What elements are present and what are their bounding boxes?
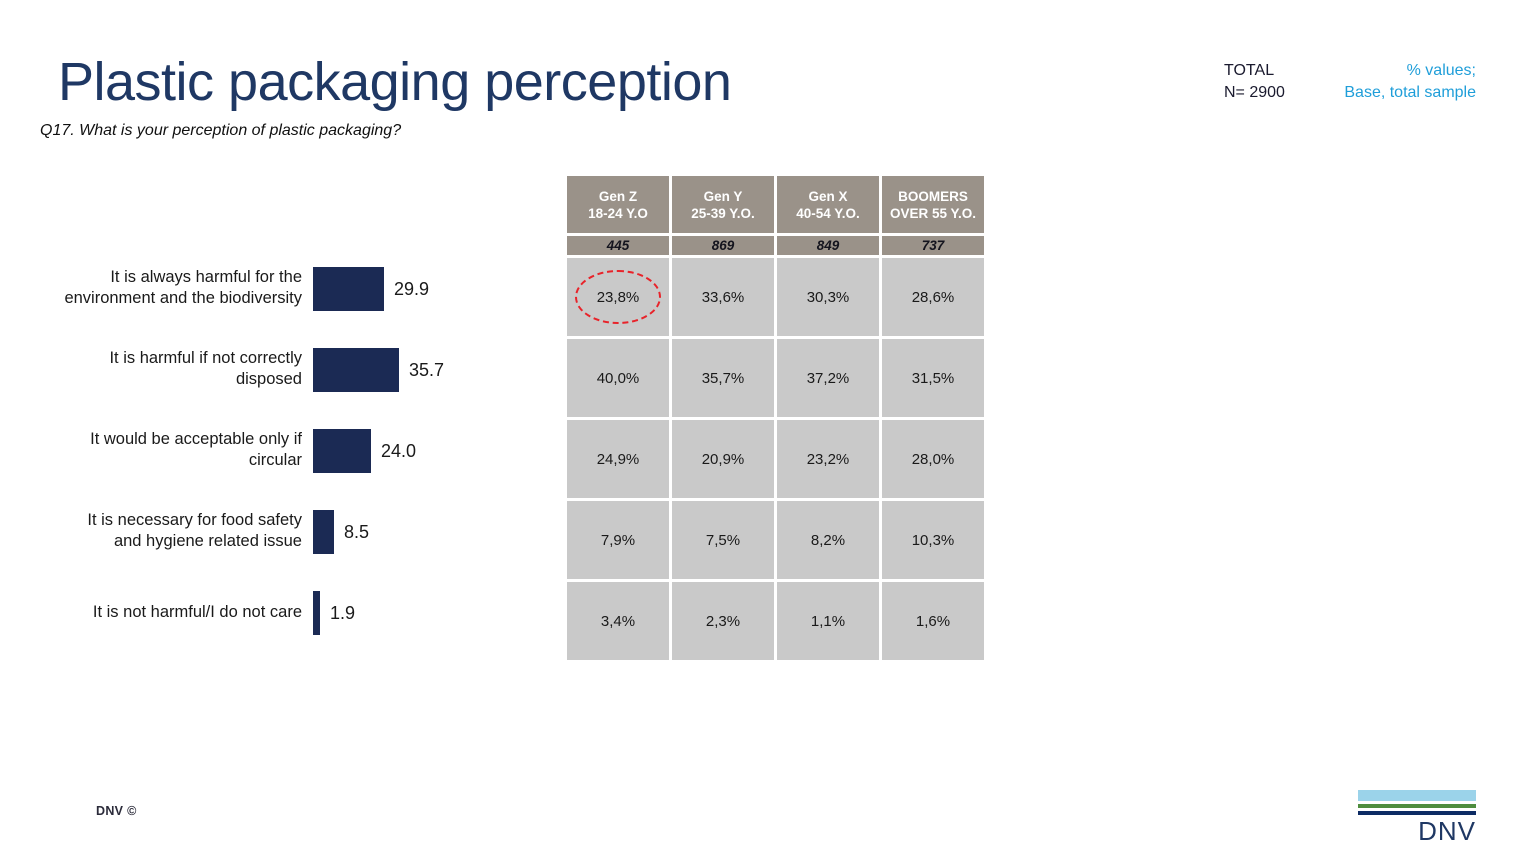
bar-value-label: 1.9: [330, 602, 355, 624]
table-cell-value: 7,5%: [706, 532, 740, 549]
table-cell-value: 40,0%: [597, 370, 640, 387]
table-cell-value: 28,0%: [912, 451, 955, 468]
column-header-line: 25-39 Y.O.: [691, 205, 755, 222]
base-note-line2: Base, total sample: [1344, 82, 1476, 104]
column-header-line: OVER 55 Y.O.: [890, 205, 976, 222]
logo-bar-navy: [1358, 811, 1476, 815]
table-row: 40,0%35,7%37,2%31,5%: [567, 339, 984, 417]
bar-value-label: 24.0: [381, 440, 416, 462]
question-label: Q17. What is your perception of plastic …: [40, 122, 401, 140]
table-cell: 8,2%: [777, 501, 879, 579]
bar-category-label: It is harmful if not correctlydisposed: [56, 348, 302, 390]
table-base-count: 849: [777, 236, 879, 255]
bar-label-line: It is not harmful/I do not care: [56, 602, 302, 623]
table-cell-value: 23,8%: [597, 289, 640, 306]
table-column-header: Gen Y25-39 Y.O.: [672, 176, 774, 233]
bar-value-label: 35.7: [409, 359, 444, 381]
bar-label-line: circular: [56, 450, 302, 471]
bar-rect: [313, 429, 371, 473]
table-cell: 20,9%: [672, 420, 774, 498]
total-label: TOTAL: [1224, 60, 1285, 82]
table-cell-value: 23,2%: [807, 451, 850, 468]
bar-value-label: 29.9: [394, 278, 429, 300]
bar-label-line: It is always harmful for the: [56, 267, 302, 288]
table-row: 24,9%20,9%23,2%28,0%: [567, 420, 984, 498]
table-cell: 7,5%: [672, 501, 774, 579]
column-header-line: BOOMERS: [890, 188, 976, 205]
table-header-row: Gen Z18-24 Y.OGen Y25-39 Y.O.Gen X40-54 …: [567, 176, 984, 233]
column-header-line: Gen Z: [588, 188, 648, 205]
bar-chart: It is always harmful for theenvironment …: [0, 256, 540, 656]
table-cell: 1,1%: [777, 582, 879, 660]
bar-label-line: It is harmful if not correctly: [56, 348, 302, 369]
bar-value-label: 8.5: [344, 521, 369, 543]
bar-label-line: environment and the biodiversity: [56, 288, 302, 309]
bar-label-line: disposed: [56, 369, 302, 390]
table-row: 7,9%7,5%8,2%10,3%: [567, 501, 984, 579]
table-cell: 3,4%: [567, 582, 669, 660]
table-cell: 28,6%: [882, 258, 984, 336]
column-header-line: 40-54 Y.O.: [796, 205, 860, 222]
dnv-logo: DNV: [1358, 790, 1476, 842]
table-row: 3,4%2,3%1,1%1,6%: [567, 582, 984, 660]
base-note-line1: % values;: [1344, 60, 1476, 82]
table-cell-value: 1,6%: [916, 613, 950, 630]
bar-category-label: It is not harmful/I do not care: [56, 602, 302, 623]
table-cell: 30,3%: [777, 258, 879, 336]
table-base-count: 869: [672, 236, 774, 255]
logo-bar-light-blue: [1358, 790, 1476, 801]
bar-rect: [313, 510, 334, 554]
table-column-header: BOOMERSOVER 55 Y.O.: [882, 176, 984, 233]
column-header-line: Gen Y: [691, 188, 755, 205]
table-cell: 23,2%: [777, 420, 879, 498]
table-cell-value: 30,3%: [807, 289, 850, 306]
table-cell-value: 33,6%: [702, 289, 745, 306]
bar-rect: [313, 267, 384, 311]
table-cell-value: 24,9%: [597, 451, 640, 468]
table-cell: 40,0%: [567, 339, 669, 417]
footer-copyright: DNV ©: [96, 804, 137, 818]
base-note: % values; Base, total sample: [1344, 60, 1476, 104]
table-cell: 24,9%: [567, 420, 669, 498]
table-column-header: Gen X40-54 Y.O.: [777, 176, 879, 233]
bar-row: It is always harmful for theenvironment …: [0, 256, 540, 322]
table-cell: 28,0%: [882, 420, 984, 498]
table-cell: 1,6%: [882, 582, 984, 660]
table-row: 23,8%33,6%30,3%28,6%: [567, 258, 984, 336]
bar-category-label: It is always harmful for theenvironment …: [56, 267, 302, 309]
table-base-count: 445: [567, 236, 669, 255]
column-header-line: 18-24 Y.O: [588, 205, 648, 222]
table-cell-value: 3,4%: [601, 613, 635, 630]
bar-rect: [313, 348, 399, 392]
table-cell-value: 31,5%: [912, 370, 955, 387]
table-cell-value: 2,3%: [706, 613, 740, 630]
bar-row: It is not harmful/I do not care1.9: [0, 580, 540, 646]
logo-bar-green: [1358, 804, 1476, 808]
table-cell-value: 1,1%: [811, 613, 845, 630]
bar-row: It is necessary for food safetyand hygie…: [0, 499, 540, 565]
bar-label-line: It is necessary for food safety: [56, 510, 302, 531]
table-cell: 37,2%: [777, 339, 879, 417]
table-cell: 2,3%: [672, 582, 774, 660]
total-sample-info: TOTAL N= 2900: [1224, 60, 1285, 104]
table-cell-value: 37,2%: [807, 370, 850, 387]
table-base-count: 737: [882, 236, 984, 255]
bar-row: It is harmful if not correctlydisposed35…: [0, 337, 540, 403]
bar-category-label: It is necessary for food safetyand hygie…: [56, 510, 302, 552]
table-cell-value: 7,9%: [601, 532, 635, 549]
table-cell: 31,5%: [882, 339, 984, 417]
table-column-header: Gen Z18-24 Y.O: [567, 176, 669, 233]
column-header-line: Gen X: [796, 188, 860, 205]
total-count: N= 2900: [1224, 82, 1285, 104]
table-cell: 33,6%: [672, 258, 774, 336]
table-cell-value: 20,9%: [702, 451, 745, 468]
bar-label-line: It would be acceptable only if: [56, 429, 302, 450]
table-cell-value: 35,7%: [702, 370, 745, 387]
logo-wordmark: DNV: [1358, 816, 1476, 846]
bar-category-label: It would be acceptable only ifcircular: [56, 429, 302, 471]
table-cell-value: 10,3%: [912, 532, 955, 549]
bar-label-line: and hygiene related issue: [56, 531, 302, 552]
bar-rect: [313, 591, 320, 635]
slide-canvas: Plastic packaging perception Q17. What i…: [0, 0, 1524, 851]
table-cell: 23,8%: [567, 258, 669, 336]
table-cell-value: 8,2%: [811, 532, 845, 549]
bar-row: It would be acceptable only ifcircular24…: [0, 418, 540, 484]
page-title: Plastic packaging perception: [58, 50, 731, 114]
generation-table: Gen Z18-24 Y.OGen Y25-39 Y.O.Gen X40-54 …: [567, 176, 984, 663]
table-cell: 10,3%: [882, 501, 984, 579]
table-cell: 7,9%: [567, 501, 669, 579]
table-cell: 35,7%: [672, 339, 774, 417]
table-cell-value: 28,6%: [912, 289, 955, 306]
table-base-row: 445869849737: [567, 236, 984, 255]
